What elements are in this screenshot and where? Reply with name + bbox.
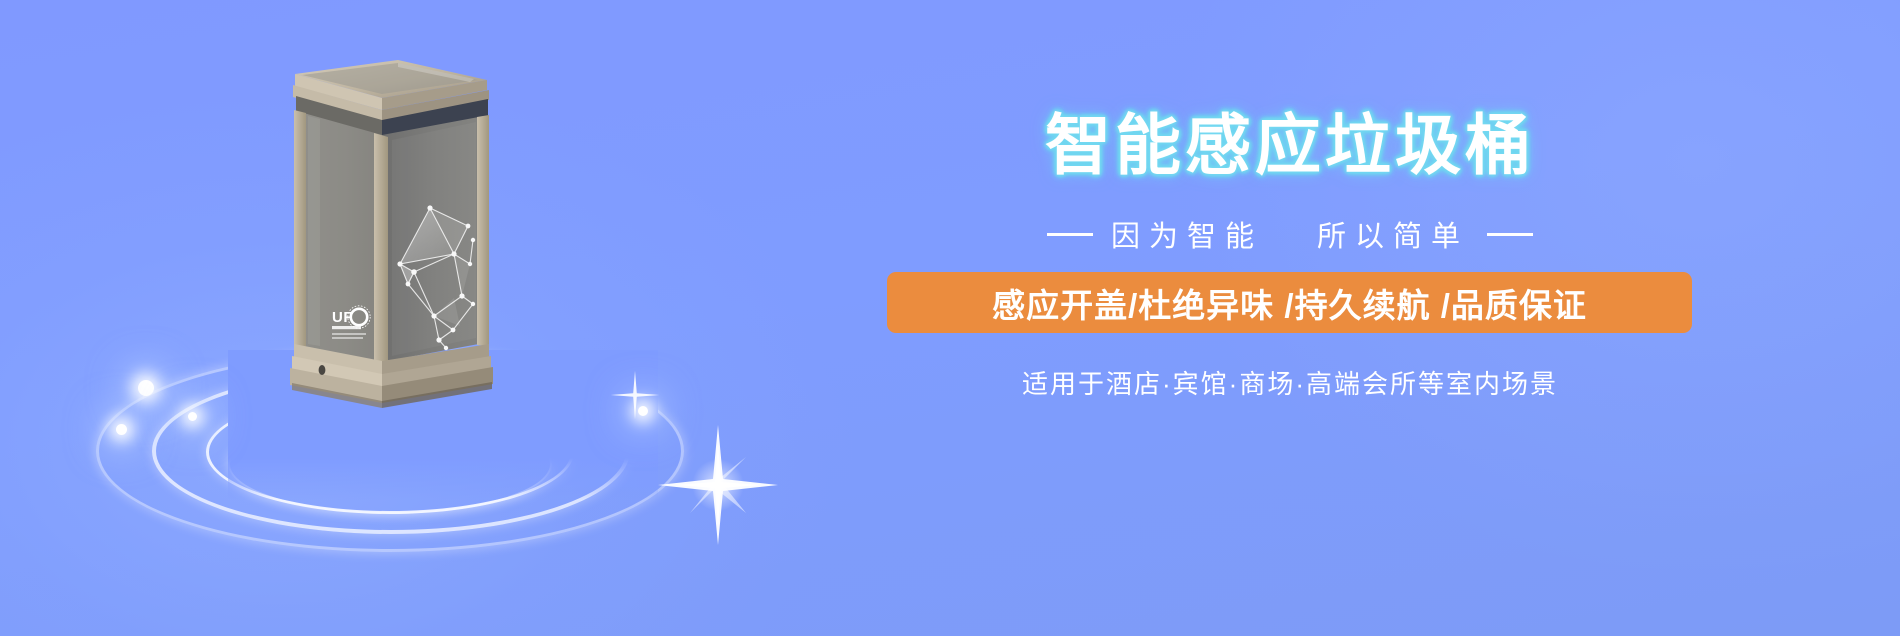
feature-badge-text: 感应开盖/杜绝异味 /持久续航 /品质保证 xyxy=(992,279,1587,327)
glow-dot-icon xyxy=(188,412,197,421)
usage-scenario-text: 适用于酒店·宾馆·商场·高端会所等室内场景 xyxy=(880,364,1700,401)
marketing-copy: 智能感应垃圾桶 因为智能 所以简单 感应开盖/杜绝异味 /持久续航 /品质保证 … xyxy=(880,0,1890,636)
product-banner: UF xyxy=(0,0,1900,636)
feature-badge: 感应开盖/杜绝异味 /持久续航 /品质保证 xyxy=(887,272,1692,333)
glow-dot-icon xyxy=(116,424,127,435)
product-stage: UF xyxy=(0,0,780,636)
ripple-ring-core xyxy=(228,414,552,514)
tagline-dash-right xyxy=(1487,233,1533,236)
tagline-dash-left xyxy=(1047,233,1093,236)
page-title: 智能感应垃圾桶 xyxy=(880,112,1700,178)
tagline-right-text: 所以简单 xyxy=(1317,213,1469,255)
glow-dot-icon xyxy=(638,406,648,416)
tagline-left-text: 因为智能 xyxy=(1111,213,1263,255)
tagline-row: 因为智能 所以简单 xyxy=(880,213,1700,255)
glow-dot-icon xyxy=(138,380,154,396)
ufo-brand-logo: UF xyxy=(332,306,370,339)
smart-trash-can-image: UF xyxy=(248,58,496,408)
